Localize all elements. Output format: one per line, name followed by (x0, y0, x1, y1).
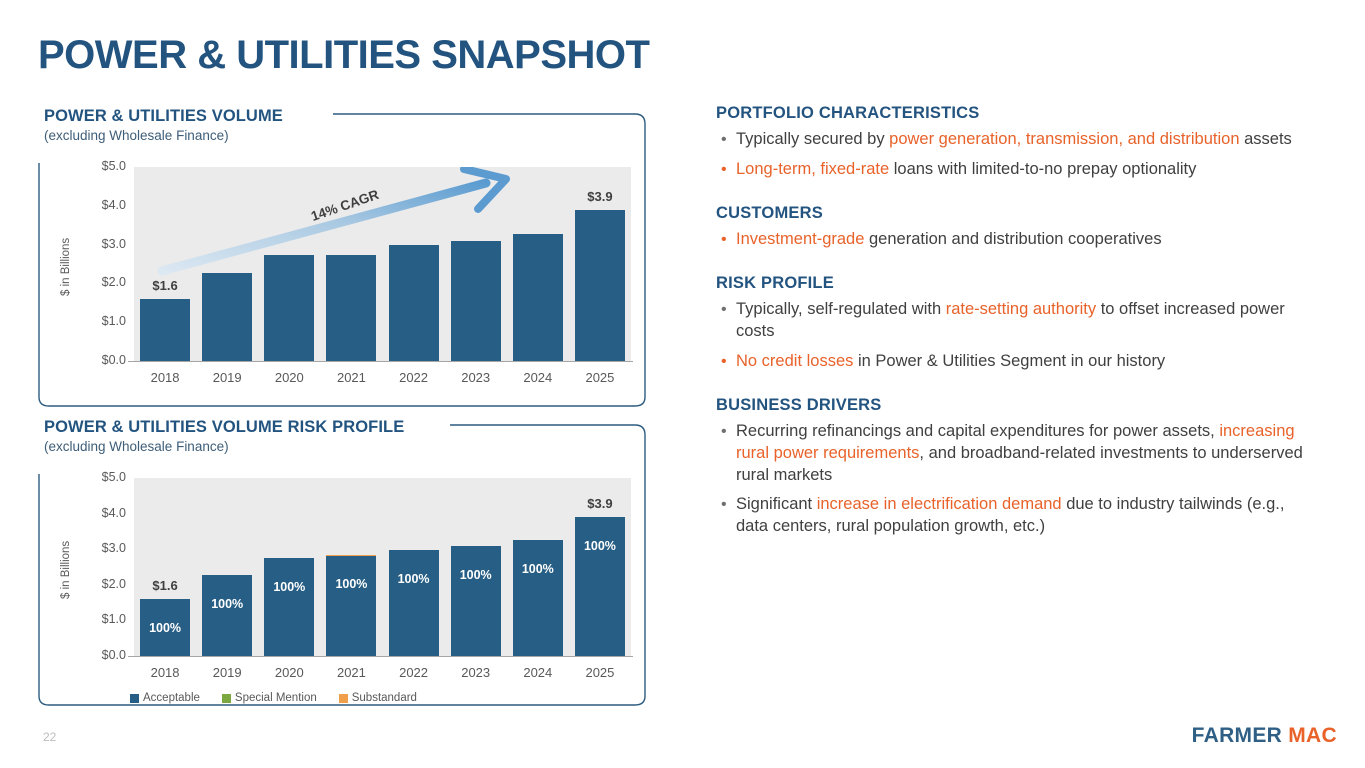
section-heading: PORTFOLIO CHARACTERISTICS (716, 104, 1316, 123)
detail-section: PORTFOLIO CHARACTERISTICS•Typically secu… (716, 104, 1316, 181)
bullet-item: •Typically secured by power generation, … (716, 129, 1316, 151)
bar (575, 517, 625, 656)
bullet-text: Significant (736, 495, 817, 513)
bar-total-label: $3.9 (569, 189, 631, 204)
x-axis-tick-label: 2025 (569, 665, 631, 680)
bar (202, 575, 252, 656)
page-title: POWER & UTILITIES SNAPSHOT (38, 33, 649, 78)
y-axis-tick-label: $3.0 (78, 237, 126, 251)
bar (326, 555, 376, 656)
logo-text-accent: MAC (1288, 724, 1337, 747)
card-subtitle-volume: (excluding Wholesale Finance) (44, 128, 237, 143)
bullet-highlight-text: No credit losses (736, 352, 853, 370)
bullet-text: Recurring refinancings and capital expen… (736, 422, 1219, 440)
legend-item: Acceptable (130, 692, 200, 704)
bar-chart-risk-profile: $ in Billions$0.0$1.0$2.0$3.0$4.0$5.0201… (38, 466, 646, 706)
bullet-item: •Typically, self-regulated with rate-set… (716, 299, 1316, 343)
card-subtitle-risk: (excluding Wholesale Finance) (44, 439, 237, 454)
y-axis-tick-label: $3.0 (78, 541, 126, 555)
y-axis-tick-label: $5.0 (78, 159, 126, 173)
bar-total-label: $1.6 (134, 578, 196, 593)
bar-value-label: 100% (513, 562, 563, 576)
y-axis-title: $ in Billions (60, 541, 72, 599)
x-axis-tick-label: 2024 (507, 665, 569, 680)
card-title-risk: POWER & UTILITIES VOLUME RISK PROFILE (44, 418, 412, 437)
detail-section: CUSTOMERS•Investment-grade generation an… (716, 204, 1316, 251)
bar (264, 558, 314, 656)
bullet-highlight-text: rate-setting authority (946, 300, 1096, 318)
bullet-item: •Investment-grade generation and distrib… (716, 229, 1316, 251)
legend-label: Substandard (352, 692, 417, 704)
legend-label: Acceptable (143, 692, 200, 704)
legend-item: Special Mention (222, 692, 317, 704)
farmer-mac-logo: FARMER MAC (1192, 724, 1337, 748)
section-heading: CUSTOMERS (716, 204, 1316, 223)
bar (513, 540, 563, 656)
x-axis-tick-label: 2018 (134, 665, 196, 680)
bullet-highlight-text: Long-term, fixed-rate (736, 160, 889, 178)
bullet-item: •Long-term, fixed-rate loans with limite… (716, 159, 1316, 181)
y-axis-tick-label: $0.0 (78, 353, 126, 367)
bullet-text: assets (1240, 130, 1292, 148)
x-axis-line (128, 361, 633, 362)
bar-value-label: 100% (451, 568, 501, 582)
x-axis-tick-label: 2020 (258, 665, 320, 680)
bullet-highlight-text: Investment-grade (736, 230, 864, 248)
bar (513, 234, 563, 361)
chart-card-risk-profile: POWER & UTILITIES VOLUME RISK PROFILE (e… (38, 418, 646, 706)
legend-item: Substandard (339, 692, 417, 704)
x-axis-tick-label: 2021 (320, 370, 382, 385)
bullet-text: loans with limited-to-no prepay optional… (889, 160, 1196, 178)
bar-value-label: 100% (389, 572, 439, 586)
logo-text-primary: FARMER (1192, 724, 1282, 747)
bar-segment-substandard (326, 555, 376, 556)
bullet-highlight-text: increase in electrification demand (817, 495, 1062, 513)
chart-legend: AcceptableSpecial MentionSubstandard (130, 692, 439, 704)
bullet-dot-icon: • (721, 351, 727, 372)
details-column: PORTFOLIO CHARACTERISTICS•Typically secu… (716, 104, 1316, 561)
bar-value-label: 100% (575, 539, 625, 553)
section-heading: RISK PROFILE (716, 274, 1316, 293)
bar (451, 546, 501, 656)
bar (389, 550, 439, 656)
bar (202, 273, 252, 361)
bullet-item: •Recurring refinancings and capital expe… (716, 421, 1316, 487)
bar (451, 241, 501, 361)
bullet-text: Typically, self-regulated with (736, 300, 946, 318)
card-title-volume: POWER & UTILITIES VOLUME (44, 107, 291, 126)
y-axis-tick-label: $2.0 (78, 275, 126, 289)
bullet-dot-icon: • (721, 494, 727, 515)
bar (389, 245, 439, 361)
bar (326, 255, 376, 361)
detail-section: RISK PROFILE•Typically, self-regulated w… (716, 274, 1316, 373)
detail-section: BUSINESS DRIVERS•Recurring refinancings … (716, 396, 1316, 539)
bullet-highlight-text: power generation, transmission, and dist… (889, 130, 1239, 148)
x-axis-tick-label: 2019 (196, 665, 258, 680)
x-axis-tick-label: 2020 (258, 370, 320, 385)
bar (264, 255, 314, 361)
page-number: 22 (43, 730, 56, 744)
slide-root: POWER & UTILITIES SNAPSHOT POWER & UTILI… (0, 0, 1365, 768)
x-axis-tick-label: 2024 (507, 370, 569, 385)
legend-swatch (130, 694, 139, 703)
x-axis-tick-label: 2018 (134, 370, 196, 385)
bullet-item: •Significant increase in electrification… (716, 494, 1316, 538)
x-axis-tick-label: 2021 (320, 665, 382, 680)
bar-value-label: 100% (202, 597, 252, 611)
x-axis-tick-label: 2025 (569, 370, 631, 385)
legend-label: Special Mention (235, 692, 317, 704)
y-axis-tick-label: $4.0 (78, 506, 126, 520)
bar-total-label: $3.9 (569, 496, 631, 511)
bullet-dot-icon: • (721, 129, 727, 150)
bullet-dot-icon: • (721, 159, 727, 180)
bar-chart-volume: $ in Billions$0.0$1.0$2.0$3.0$4.0$5.0201… (38, 155, 646, 407)
bullet-dot-icon: • (721, 229, 727, 250)
bullet-dot-icon: • (721, 421, 727, 442)
bar-value-label: 100% (140, 621, 190, 635)
section-heading: BUSINESS DRIVERS (716, 396, 1316, 415)
y-axis-tick-label: $1.0 (78, 612, 126, 626)
x-axis-tick-label: 2022 (383, 665, 445, 680)
legend-swatch (222, 694, 231, 703)
x-axis-line (128, 656, 633, 657)
y-axis-tick-label: $4.0 (78, 198, 126, 212)
legend-swatch (339, 694, 348, 703)
bar-total-label: $1.6 (134, 278, 196, 293)
x-axis-tick-label: 2023 (445, 370, 507, 385)
x-axis-tick-label: 2019 (196, 370, 258, 385)
bullet-dot-icon: • (721, 299, 727, 320)
y-axis-tick-label: $2.0 (78, 577, 126, 591)
y-axis-tick-label: $5.0 (78, 470, 126, 484)
bullet-text: in Power & Utilities Segment in our hist… (853, 352, 1165, 370)
x-axis-tick-label: 2023 (445, 665, 507, 680)
bullet-item: •No credit losses in Power & Utilities S… (716, 351, 1316, 373)
bar (575, 210, 625, 361)
bar-value-label: 100% (264, 580, 314, 594)
y-axis-tick-label: $1.0 (78, 314, 126, 328)
bar (140, 299, 190, 361)
bullet-text: generation and distribution cooperatives (864, 230, 1161, 248)
y-axis-tick-label: $0.0 (78, 648, 126, 662)
chart-card-volume: POWER & UTILITIES VOLUME (excluding Whol… (38, 107, 646, 407)
bar-value-label: 100% (326, 577, 376, 591)
bullet-text: Typically secured by (736, 130, 889, 148)
y-axis-title: $ in Billions (60, 238, 72, 296)
x-axis-tick-label: 2022 (383, 370, 445, 385)
